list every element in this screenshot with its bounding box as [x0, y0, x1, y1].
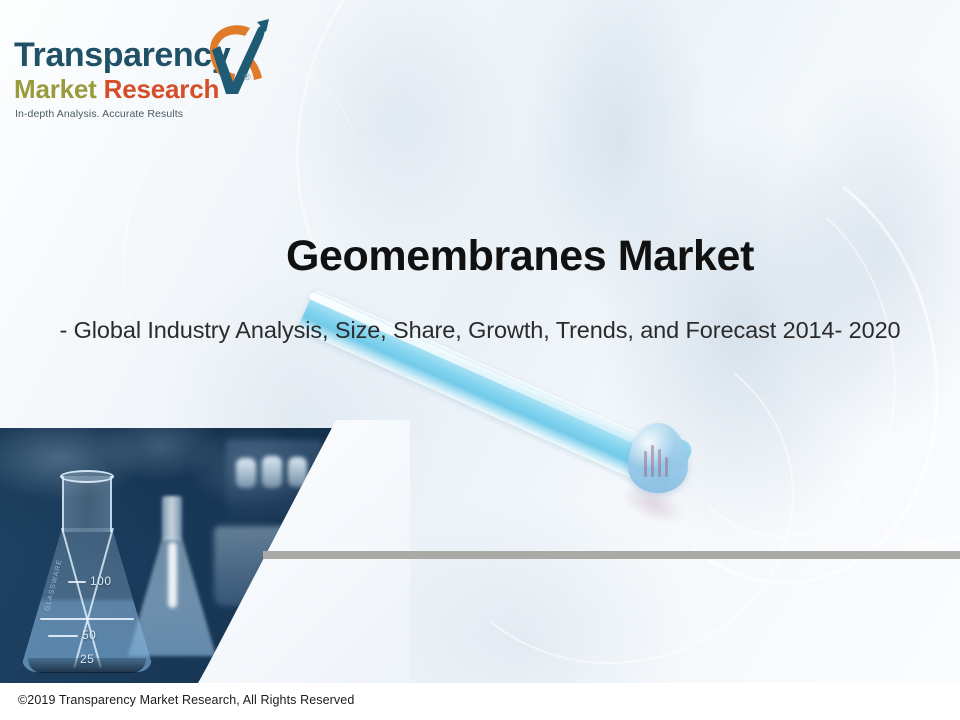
checkmark-arrow-icon	[200, 16, 274, 96]
presentation-slide: 100 50 25 GLASSWARE Transparency Market …	[0, 0, 960, 720]
copyright-notice: ©2019 Transparency Market Research, All …	[18, 693, 354, 707]
flask-graduation-100: 100	[90, 574, 112, 588]
logo-tagline: In-depth Analysis. Accurate Results	[15, 108, 183, 120]
flask-cone	[22, 528, 152, 672]
flask-neck	[62, 476, 112, 532]
logo-text-market: Market	[14, 74, 97, 104]
logo-text-market-research: Market Research	[14, 76, 219, 102]
logo-text-transparency: Transparency	[14, 38, 230, 72]
test-tube	[288, 457, 307, 487]
page-title: Geomembranes Market	[0, 232, 960, 281]
flask-graduation-50: 50	[82, 628, 96, 642]
flask-tick-mark	[68, 581, 86, 583]
erlenmeyer-flask: 100 50 25 GLASSWARE	[22, 470, 152, 672]
company-logo[interactable]: Transparency Market Research In-depth An…	[12, 26, 272, 130]
test-tube	[236, 458, 256, 488]
flask-liquid-surface	[40, 618, 134, 620]
test-tube	[262, 456, 282, 488]
flask-graduation-25: 25	[80, 652, 94, 666]
divider-bar	[263, 551, 960, 559]
registered-trademark-symbol: ®	[244, 72, 251, 82]
page-subtitle: - Global Industry Analysis, Size, Share,…	[0, 316, 960, 345]
flask-tick-mark	[48, 635, 78, 637]
